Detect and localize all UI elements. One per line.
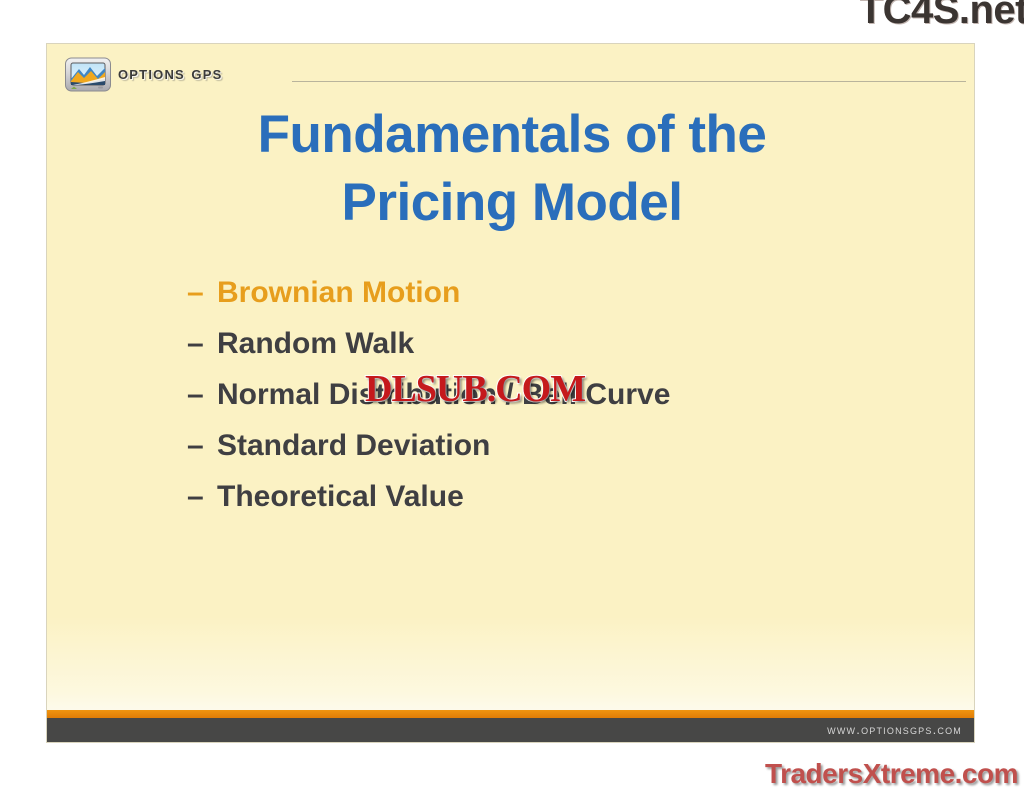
- page-title-line-2: Pricing Model: [107, 169, 917, 237]
- bullet-dash-icon: –: [187, 429, 217, 463]
- bullet-dash-icon: –: [187, 327, 217, 361]
- list-item: – Brownian Motion: [187, 276, 907, 327]
- header-divider: [292, 81, 966, 82]
- watermark-dlsub: DLSUB.COM: [365, 367, 585, 411]
- list-item: – Standard Deviation: [187, 429, 907, 480]
- slide-header: Options GPS: [47, 44, 974, 96]
- watermark-tc4s: TC4S.net: [859, 0, 1024, 33]
- page-title-line-1: Fundamentals of the: [107, 101, 917, 169]
- list-item-label: Standard Deviation: [217, 429, 490, 463]
- slide-footer: www.OptionsGPS.com: [47, 718, 974, 742]
- bullet-dash-icon: –: [187, 276, 217, 310]
- footer-website-label: www.OptionsGPS.com: [827, 722, 962, 737]
- list-item: – Theoretical Value: [187, 480, 907, 531]
- bullet-dash-icon: –: [187, 378, 217, 412]
- gps-device-chart-icon: [64, 55, 112, 93]
- watermark-tradersxtreme: TradersXtreme.com: [765, 758, 1018, 790]
- accent-bar: [47, 710, 974, 718]
- list-item-label: Random Walk: [217, 327, 414, 361]
- brand-label: Options GPS: [118, 63, 222, 85]
- bullet-dash-icon: –: [187, 480, 217, 514]
- list-item-label: Theoretical Value: [217, 480, 464, 514]
- page-title: Fundamentals of the Pricing Model: [107, 101, 917, 237]
- list-item-label: Brownian Motion: [217, 276, 460, 310]
